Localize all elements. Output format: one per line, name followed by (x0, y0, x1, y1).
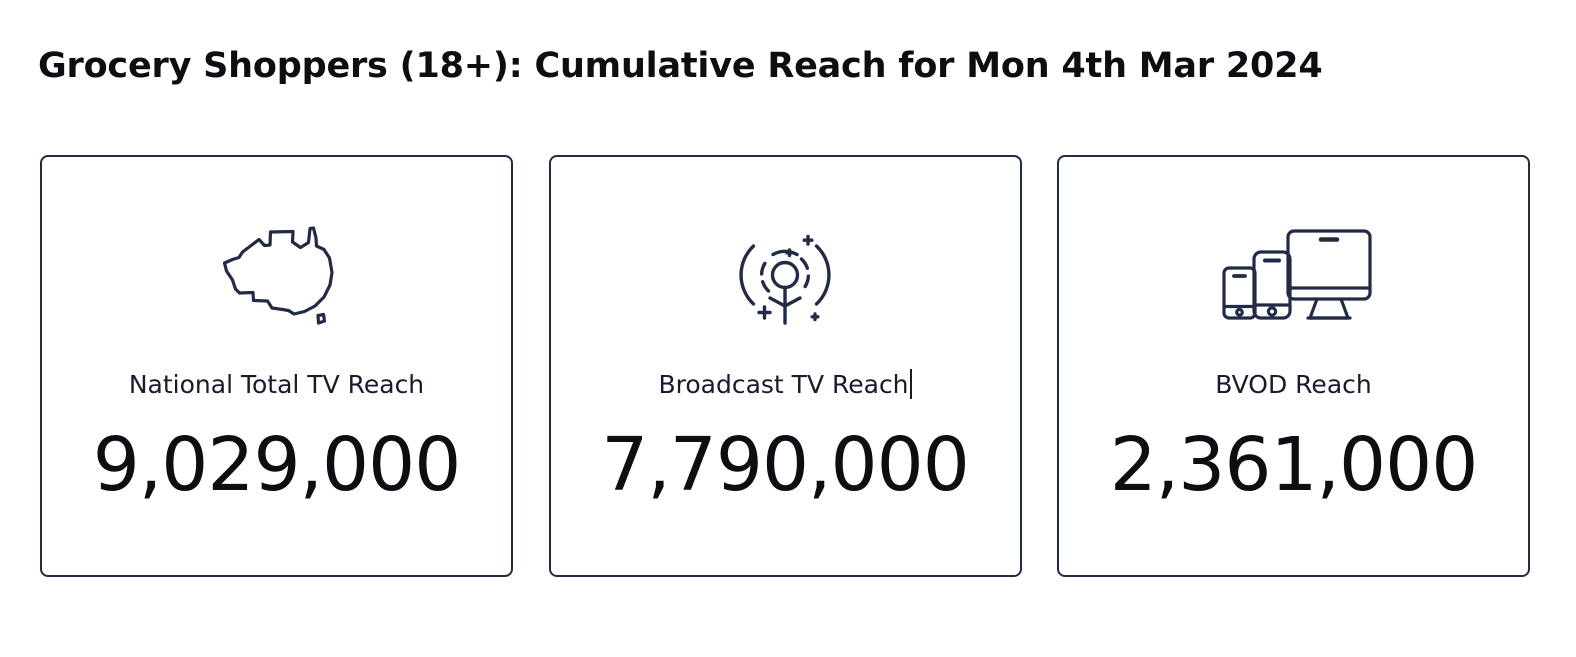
metric-card-label: Broadcast TV Reach (658, 369, 911, 401)
metric-card-value: 2,361,000 (1110, 419, 1478, 511)
metric-card-national-total-tv-reach[interactable]: National Total TV Reach 9,029,000 (40, 155, 513, 577)
metric-card-label-text: BVOD Reach (1215, 370, 1371, 399)
metric-card-label: BVOD Reach (1215, 369, 1371, 401)
broadcast-antenna-icon (726, 219, 844, 331)
metric-card-label: National Total TV Reach (129, 369, 424, 401)
metric-card-broadcast-tv-reach[interactable]: Broadcast TV Reach 7,790,000 (549, 155, 1022, 577)
devices-icon (1214, 219, 1374, 331)
dashboard-page: Grocery Shoppers (18+): Cumulative Reach… (0, 0, 1576, 657)
metric-card-label-text: Broadcast TV Reach (658, 370, 908, 399)
metric-card-bvod-reach[interactable]: BVOD Reach 2,361,000 (1057, 155, 1530, 577)
metric-cards-row: National Total TV Reach 9,029,000 (40, 155, 1530, 577)
metric-card-value: 9,029,000 (93, 419, 461, 511)
australia-map-icon (212, 219, 342, 331)
metric-card-label-text: National Total TV Reach (129, 370, 424, 399)
text-cursor-caret (910, 369, 912, 399)
metric-card-value: 7,790,000 (601, 419, 969, 511)
page-title: Grocery Shoppers (18+): Cumulative Reach… (38, 44, 1323, 88)
